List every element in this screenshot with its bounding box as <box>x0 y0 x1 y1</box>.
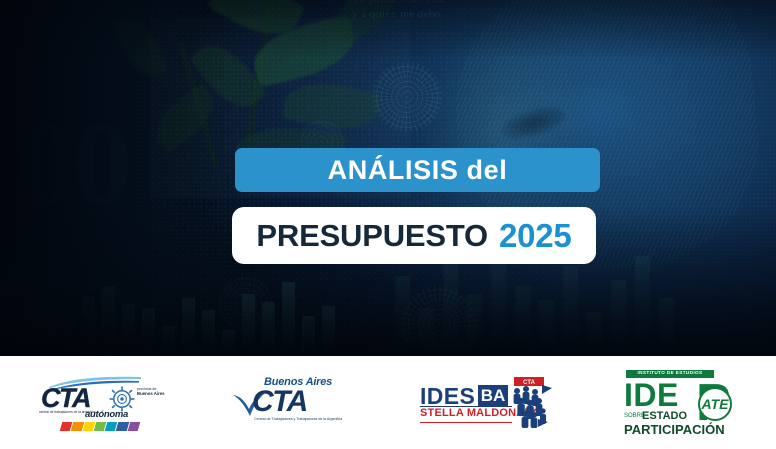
title-banner-primary: ANÁLISIS del <box>235 148 600 192</box>
logo-province-big: Buenos Aires <box>137 391 165 396</box>
logo-cta-acronym: CTA <box>252 387 307 417</box>
logo-idep-participacion: PARTICIPACIÓN <box>624 423 725 436</box>
footer-logo-bar: CTA <box>0 356 776 449</box>
logo-idesba-ba-box: BA <box>478 385 508 406</box>
title-banner-secondary: PRESUPUESTO 2025 <box>232 207 596 264</box>
logo-color-stripe <box>127 422 140 431</box>
logo-idep-topbar-text: INSTITUTO DE ESTUDIOS <box>638 371 703 376</box>
logo-cta-autonoma-word: autónoma <box>85 410 128 420</box>
title-year: 2025 <box>499 219 572 252</box>
gear-icon <box>109 386 135 412</box>
logo-slot: CTA <box>0 356 194 449</box>
logo-idep-estado: ESTADO <box>642 411 687 422</box>
logo-cta-acronym: CTA <box>41 385 90 412</box>
logo-province-block: provincia de Buenos Aires <box>137 386 165 397</box>
poster-canvas: con patria o sin ella y a quien me debo … <box>0 0 776 449</box>
logo-slot: Buenos Aires CTA Central de Trabajadores… <box>194 356 388 449</box>
title-line-presupuesto: PRESUPUESTO <box>256 220 488 251</box>
logo-province-small: provincia de <box>137 387 156 391</box>
title-line-analisis: ANÁLISIS del <box>328 157 508 184</box>
logo-ate-text: ATE <box>702 397 729 411</box>
logo-cta-buenos-aires[interactable]: Buenos Aires CTA Central de Trabajadores… <box>232 377 350 429</box>
logo-cta-autonoma[interactable]: CTA <box>33 372 161 434</box>
logo-idep-acronym: IDE <box>624 379 679 411</box>
logo-idesba-name: IDES <box>420 385 475 408</box>
logo-idesba-ba-text: BA <box>481 387 506 404</box>
logo-slot: IDES BA STELLA MALDONADO CTA <box>388 356 582 449</box>
logo-cta-subtitle: Central de Trabajadores y Trabajadoras d… <box>254 417 342 421</box>
logo-idep-ate[interactable]: INSTITUTO DE ESTUDIOS P IDE ATE SOBRE ES… <box>618 370 740 436</box>
svg-text:CTA: CTA <box>523 380 536 386</box>
logo-slot: INSTITUTO DE ESTUDIOS P IDE ATE SOBRE ES… <box>582 356 776 449</box>
logo-idep-y: Y <box>700 413 704 419</box>
logo-idesba[interactable]: IDES BA STELLA MALDONADO CTA <box>420 377 550 429</box>
crowd-silhouette-icon: CTA <box>508 375 556 429</box>
logo-divider <box>420 422 512 423</box>
logo-color-stripes <box>60 422 141 431</box>
